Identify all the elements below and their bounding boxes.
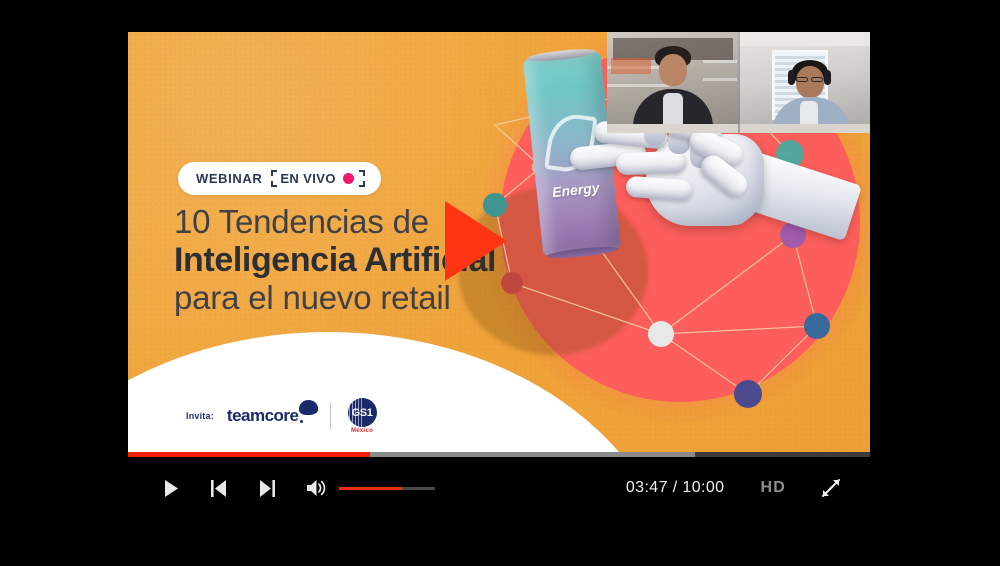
play-overlay-button[interactable]: [128, 32, 870, 452]
video-stage[interactable]: Energy Invita: teamcore: [128, 32, 870, 452]
progress-played: [128, 452, 370, 457]
volume-slider[interactable]: [339, 487, 435, 490]
previous-track-icon: [211, 480, 227, 497]
volume-button[interactable]: [300, 471, 334, 505]
volume-icon: [307, 479, 327, 497]
next-track-icon: [259, 480, 275, 497]
play-icon: [164, 480, 179, 497]
play-triangle-icon: [445, 201, 507, 281]
previous-track-button[interactable]: [202, 471, 236, 505]
fullscreen-button[interactable]: [816, 473, 846, 503]
progress-bar[interactable]: [128, 452, 870, 457]
quality-badge[interactable]: HD: [760, 479, 786, 497]
fullscreen-icon: [820, 477, 842, 499]
video-player: Energy Invita: teamcore: [0, 0, 1000, 566]
time-display: 03:47 / 10:00: [626, 479, 725, 497]
next-track-button[interactable]: [250, 471, 284, 505]
player-controls: 03:47 / 10:00 HD: [128, 462, 870, 514]
play-button[interactable]: [154, 471, 188, 505]
volume-slider-fill: [339, 487, 402, 490]
